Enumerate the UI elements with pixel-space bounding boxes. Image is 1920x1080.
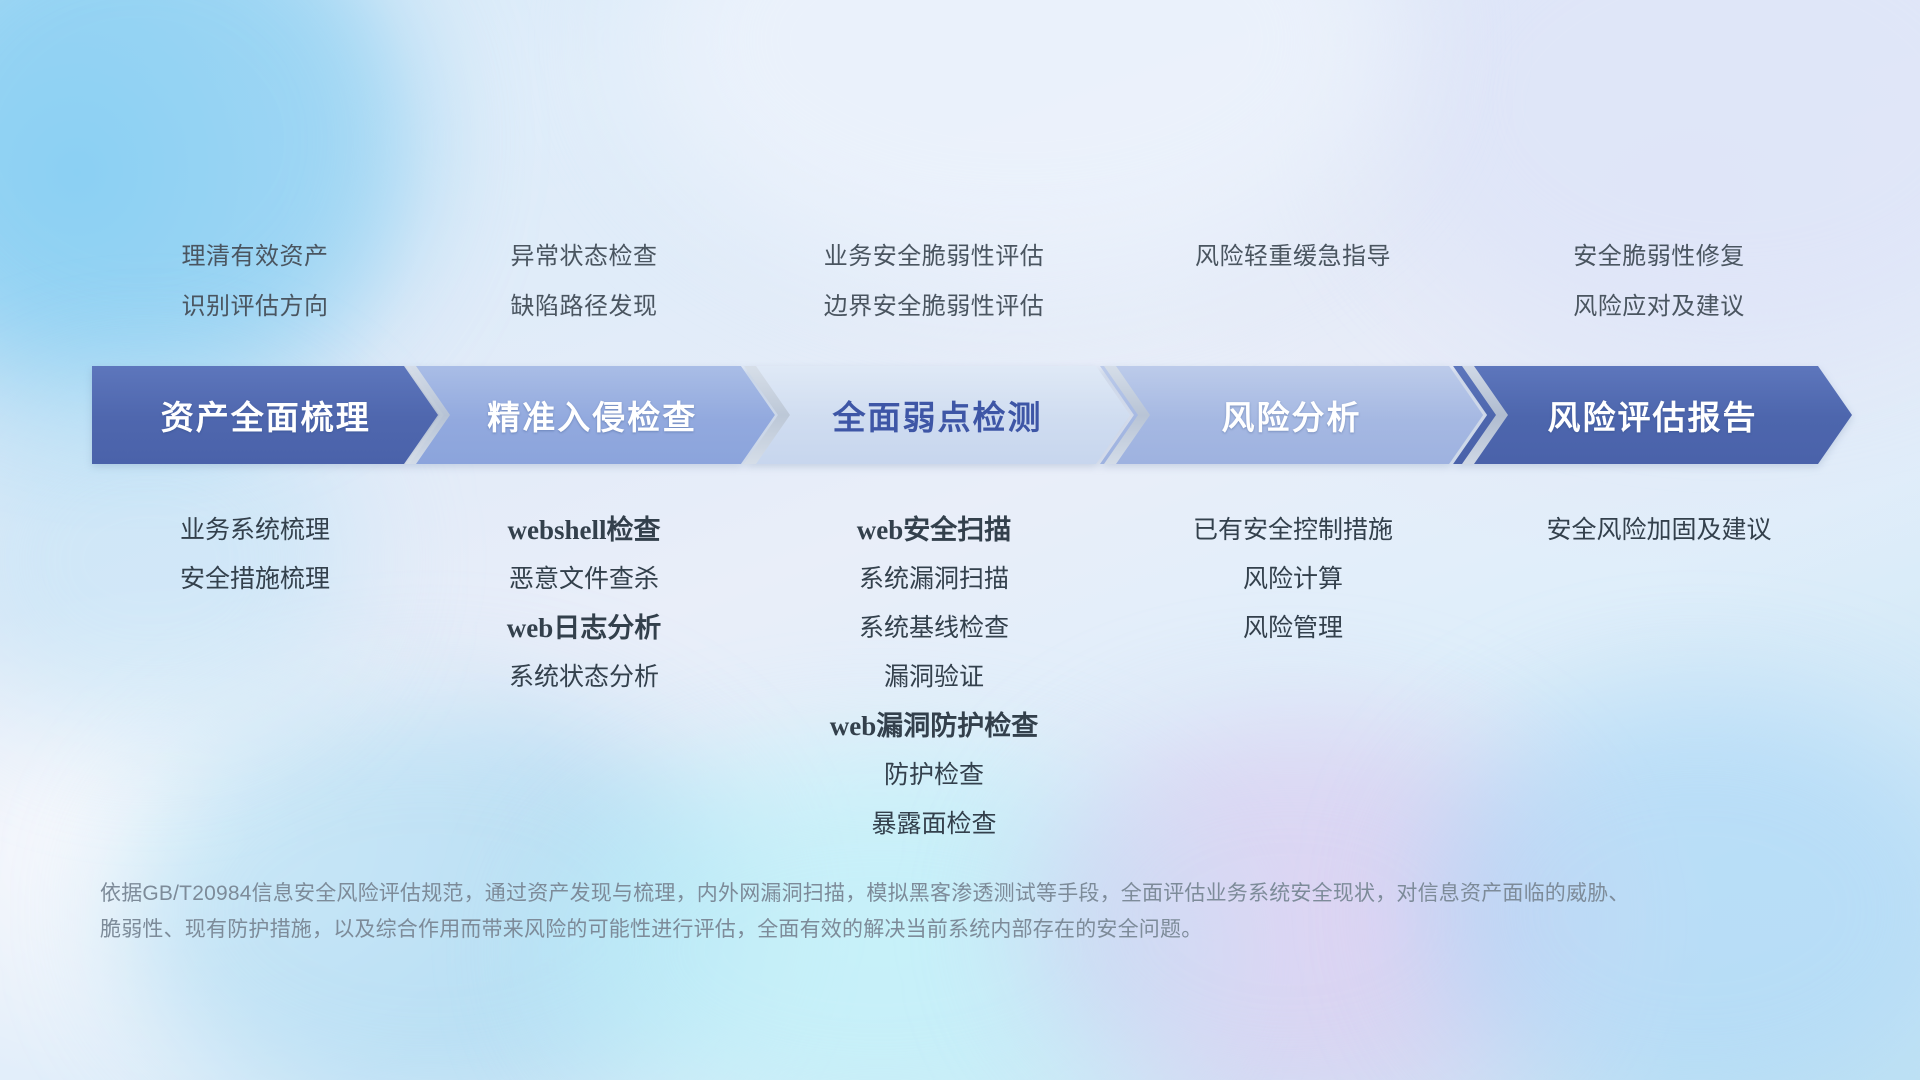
process-stage-asset-inventory[interactable]: 资产全面梳理 (92, 366, 440, 464)
top-note: 异常状态检查 (414, 232, 754, 282)
detail-item: 安全风险加固及建议 (1472, 506, 1846, 555)
process-stage-weakness-detection[interactable]: 全面弱点检测 (745, 366, 1130, 464)
top-note: 边界安全脆弱性评估 (754, 282, 1114, 332)
detail-item: 风险计算 (1114, 555, 1472, 604)
detail-item: 系统漏洞扫描 (754, 555, 1114, 604)
detail-item: 漏洞验证 (754, 653, 1114, 702)
process-stage-intrusion-check[interactable]: 精准入侵检查 (410, 366, 775, 464)
process-arrow-band: 资产全面梳理精准入侵检查全面弱点检测风险分析风险评估报告 (92, 366, 1852, 464)
detail-list-asset-inventory: 业务系统梳理安全措施梳理 (96, 506, 414, 604)
detail-item: 安全措施梳理 (96, 555, 414, 604)
detail-item: 已有安全控制措施 (1114, 506, 1472, 555)
top-notes-column-intrusion-check: 异常状态检查缺陷路径发现 (414, 232, 754, 332)
process-stage-label: 全面弱点检测 (832, 391, 1042, 439)
detail-item: web漏洞防护检查 (754, 702, 1114, 751)
top-note: 风险应对及建议 (1472, 282, 1846, 332)
process-stage-label: 风险分析 (1222, 391, 1362, 439)
process-stage-label: 资产全面梳理 (161, 391, 371, 439)
top-note: 缺陷路径发现 (414, 282, 754, 332)
top-note: 识别评估方向 (96, 282, 414, 332)
detail-item: 恶意文件查杀 (414, 555, 754, 604)
detail-list-weakness-detection: web安全扫描系统漏洞扫描系统基线检查漏洞验证web漏洞防护检查防护检查暴露面检… (754, 506, 1114, 849)
detail-item: web日志分析 (414, 604, 754, 653)
detail-item: 暴露面检查 (754, 800, 1114, 849)
top-note: 理清有效资产 (96, 232, 414, 282)
top-notes-column-risk-analysis: 风险轻重缓急指导 (1114, 232, 1472, 332)
detail-item: 业务系统梳理 (96, 506, 414, 555)
top-notes-column-weakness-detection: 业务安全脆弱性评估边界安全脆弱性评估 (754, 232, 1114, 332)
process-stage-risk-report[interactable]: 风险评估报告 (1453, 366, 1852, 464)
detail-item: web安全扫描 (754, 506, 1114, 555)
top-notes-row: 理清有效资产识别评估方向异常状态检查缺陷路径发现业务安全脆弱性评估边界安全脆弱性… (96, 232, 1846, 332)
footer-description: 依据GB/T20984信息安全风险评估规范，通过资产发现与梳理，内外网漏洞扫描，… (100, 876, 1630, 948)
bottom-detail-row: 业务系统梳理安全措施梳理webshell检查恶意文件查杀web日志分析系统状态分… (96, 506, 1846, 849)
detail-item: webshell检查 (414, 506, 754, 555)
top-notes-column-asset-inventory: 理清有效资产识别评估方向 (96, 232, 414, 332)
detail-list-risk-analysis: 已有安全控制措施风险计算风险管理 (1114, 506, 1472, 653)
top-note: 风险轻重缓急指导 (1114, 232, 1472, 282)
top-notes-column-risk-report: 安全脆弱性修复风险应对及建议 (1472, 232, 1846, 332)
detail-item: 系统基线检查 (754, 604, 1114, 653)
detail-list-intrusion-check: webshell检查恶意文件查杀web日志分析系统状态分析 (414, 506, 754, 702)
infographic-canvas: 理清有效资产识别评估方向异常状态检查缺陷路径发现业务安全脆弱性评估边界安全脆弱性… (0, 0, 1920, 1080)
process-stage-risk-analysis[interactable]: 风险分析 (1100, 366, 1483, 464)
detail-item: 防护检查 (754, 751, 1114, 800)
detail-item: 系统状态分析 (414, 653, 754, 702)
process-stage-label: 风险评估报告 (1548, 391, 1758, 439)
detail-item: 风险管理 (1114, 604, 1472, 653)
top-note: 安全脆弱性修复 (1472, 232, 1846, 282)
process-stage-label: 精准入侵检查 (487, 391, 697, 439)
top-note: 业务安全脆弱性评估 (754, 232, 1114, 282)
detail-list-risk-report: 安全风险加固及建议 (1472, 506, 1846, 555)
